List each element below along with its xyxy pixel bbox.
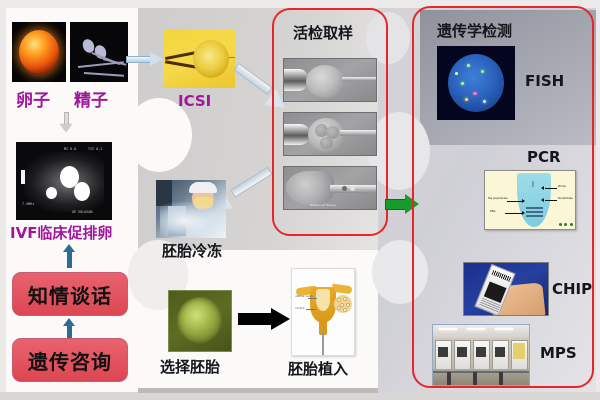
sequencing-lab-image [432, 324, 530, 386]
pcr-label: PCR [527, 148, 561, 166]
fish-nucleus-image [437, 46, 515, 120]
uterine-cavity [316, 289, 330, 311]
jigsaw-notch-genetics-low [372, 240, 428, 304]
follicle-shape [46, 187, 57, 199]
holding-pipette-icon [165, 60, 197, 69]
embryo-implantation-label: 胚胎植入 [288, 358, 348, 379]
biopsy-micrograph-caption: Blastocyst Biopsy [310, 203, 336, 207]
biopsy-section-title: 活检取样 [293, 22, 353, 43]
oviduct-annotation: oviduct [295, 307, 305, 310]
black-right-arrow-icon [238, 308, 290, 330]
genetics-section-title: 遗传学检测 [437, 20, 512, 41]
fish-label: FISH [525, 72, 564, 90]
lab-ceiling [433, 325, 529, 338]
follicle-shape [74, 182, 90, 201]
sperm-micrograph [70, 22, 128, 82]
select-embryo-label: 选择胚胎 [160, 356, 220, 377]
pcr-annotation-dna: DNA [490, 210, 496, 213]
embryo-transfer-diagram: uterine cavity oviduct [291, 268, 355, 356]
biopsy-micrograph-1 [283, 58, 377, 102]
embryo-cryopreservation-photo [156, 180, 226, 238]
ovarian-ultrasound-image: MI 0.8 TIS 0.1 7.5MHz GE VOLUSON [16, 142, 112, 220]
pcr-annotation-nucleotides: Nucleotides [558, 197, 573, 200]
holding-pipette-icon [165, 51, 197, 60]
mps-label: MPS [540, 344, 577, 362]
pcr-annotation-primer: Primer [558, 185, 566, 188]
biopsy-micrograph-2 [283, 112, 377, 156]
oocyte-micrograph [12, 22, 66, 82]
sperm-label: 精子 [74, 86, 108, 111]
biopsy-micrograph-3: Blastocyst Biopsy [283, 166, 377, 210]
ovary [334, 295, 352, 313]
bottom-edge-strip [0, 392, 600, 400]
sperm-tail-icon [78, 61, 124, 67]
oocyte-label: 卵子 [16, 86, 50, 111]
informed-consent-box[interactable]: 知情谈话 [12, 272, 128, 316]
chip-barcode [492, 270, 512, 282]
ivf-stimulation-label: IVF临床促排卵 [10, 222, 112, 243]
pcr-annotation-taq: Taq polymerase [488, 197, 508, 200]
chip-label: CHIP [552, 280, 592, 298]
icsi-label: ICSI [178, 92, 211, 110]
surgical-cap [189, 182, 217, 193]
jigsaw-notch-genetics-mid [368, 112, 430, 190]
pcr-schematic-image: DNA Primer Nucleotides DNA Taq polymeras… [484, 170, 576, 230]
sperm-tail-icon [84, 72, 124, 76]
genetic-counseling-box[interactable]: 遗传咨询 [12, 338, 128, 382]
nitrogen-vapor [160, 202, 222, 236]
jigsaw-notch-genetics-top [366, 12, 410, 64]
ultrasound-scale-bar [21, 170, 25, 184]
transfer-catheter-icon [322, 331, 324, 355]
embryo-freezing-label: 胚胎冷冻 [162, 240, 222, 261]
microarray-chip-image [463, 262, 549, 316]
injection-needle-icon [223, 57, 235, 58]
blue-right-arrow-icon [126, 52, 164, 66]
flowchart-canvas: 卵子 精子 MI 0.8 TIS 0.1 7.5MHz GE VOLUSON I… [0, 0, 600, 400]
green-right-arrow-icon [385, 194, 419, 214]
bottom-shadow-strip [138, 388, 378, 393]
icsi-micrograph [163, 30, 235, 88]
selected-embryo-micrograph [168, 290, 232, 352]
